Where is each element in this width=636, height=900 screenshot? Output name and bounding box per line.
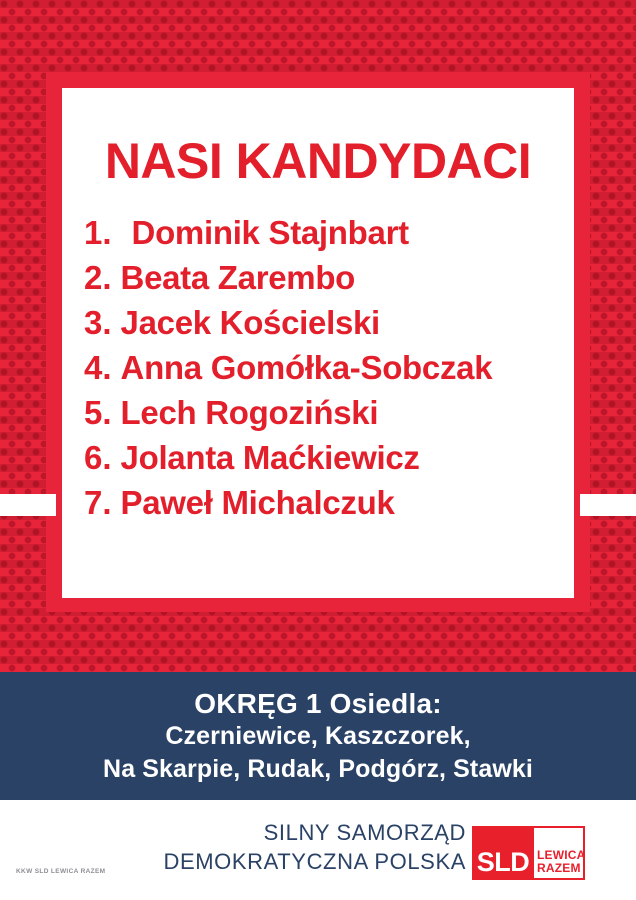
candidate-name: Jolanta Maćkiewicz <box>121 441 420 474</box>
list-item: 6. Jolanta Maćkiewicz <box>84 441 574 486</box>
candidates-card: NASI KANDYDACI 1. Dominik Stajnbart 2. B… <box>62 88 574 598</box>
campaign-poster: NASI KANDYDACI 1. Dominik Stajnbart 2. B… <box>0 0 636 900</box>
electoral-committee-note: KKW SLD LEWICA RAZEM <box>16 868 105 875</box>
slogan: SILNY SAMORZĄD DEMOKRATYCZNA POLSKA <box>163 818 466 876</box>
page-title: NASI KANDYDACI <box>62 136 574 186</box>
district-band: OKRĘG 1 Osiedla: Czerniewice, Kaszczorek… <box>0 672 636 800</box>
district-heading: OKRĘG 1 Osiedla: <box>0 672 636 720</box>
candidate-name: Dominik Stajnbart <box>132 216 409 249</box>
candidate-number: 7. <box>84 486 112 519</box>
candidate-name: Paweł Michalczuk <box>121 486 395 519</box>
sld-wordmark: SLD <box>472 826 534 880</box>
district-neighbourhoods-line-2: Na Skarpie, Rudak, Podgórz, Stawki <box>0 753 636 786</box>
candidate-list: 1. Dominik Stajnbart 2. Beata Zarembo 3.… <box>84 216 574 531</box>
candidate-name: Lech Rogoziński <box>121 396 379 429</box>
white-edge-stripe-left <box>0 494 56 516</box>
sld-lewica-razem-logo: SLD LEWICA RAZEM <box>472 826 585 880</box>
candidate-number: 2. <box>84 261 112 294</box>
slogan-line-2: DEMOKRATYCZNA POLSKA <box>163 847 466 876</box>
list-item: 5. Lech Rogoziński <box>84 396 574 441</box>
district-neighbourhoods-line-1: Czerniewice, Kaszczorek, <box>0 720 636 753</box>
list-item: 3. Jacek Kościelski <box>84 306 574 351</box>
list-item: 1. Dominik Stajnbart <box>84 216 574 261</box>
candidate-name: Beata Zarembo <box>121 261 356 294</box>
white-edge-stripe-right <box>580 494 636 516</box>
slogan-line-1: SILNY SAMORZĄD <box>163 818 466 847</box>
razem-label: RAZEM <box>537 862 581 875</box>
candidate-number: 6. <box>84 441 112 474</box>
candidate-number: 3. <box>84 306 112 339</box>
candidate-name: Anna Gomółka-Sobczak <box>121 351 493 384</box>
candidate-name: Jacek Kościelski <box>121 306 380 339</box>
lewica-razem-wordmark: LEWICA RAZEM <box>534 826 585 880</box>
candidate-number: 1. <box>84 216 112 249</box>
candidate-number: 4. <box>84 351 112 384</box>
list-item: 7. Paweł Michalczuk <box>84 486 574 531</box>
list-item: 2. Beata Zarembo <box>84 261 574 306</box>
list-item: 4. Anna Gomółka-Sobczak <box>84 351 574 396</box>
candidate-number: 5. <box>84 396 112 429</box>
